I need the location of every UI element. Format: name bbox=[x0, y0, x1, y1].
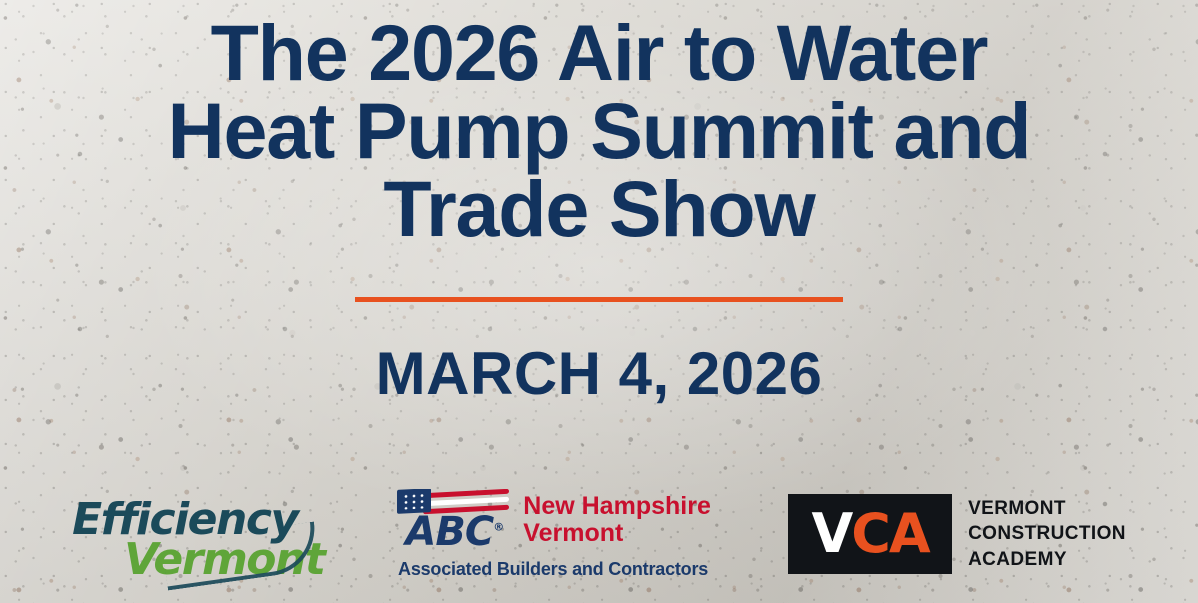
registered-mark-icon: ® bbox=[493, 520, 503, 533]
abc-chapter-line-2: Vermont bbox=[523, 520, 711, 547]
vca-wordmark-line-3: ACADEMY bbox=[968, 547, 1126, 572]
abc-chapter-line-1: New Hampshire bbox=[523, 493, 711, 520]
title-line-3: Trade Show bbox=[49, 170, 1149, 248]
sponsor-logo-row: Efficiency Vermont ABC® bbox=[0, 479, 1198, 589]
vca-letter-v: V bbox=[811, 502, 851, 565]
poster-content: The 2026 Air to Water Heat Pump Summit a… bbox=[0, 0, 1198, 603]
vca-monogram-mark: VCA bbox=[788, 494, 952, 574]
title-divider-rule bbox=[355, 297, 843, 302]
abc-chapter-name: New Hampshire Vermont bbox=[523, 493, 711, 549]
vermont-construction-academy-logo: VCA VERMONT CONSTRUCTION ACADEMY bbox=[788, 494, 1126, 574]
event-poster: The 2026 Air to Water Heat Pump Summit a… bbox=[0, 0, 1198, 603]
vca-letter-c: C bbox=[851, 502, 889, 565]
vca-wordmark-line-2: CONSTRUCTION bbox=[968, 521, 1126, 546]
flag-stripe bbox=[423, 496, 509, 506]
abc-tagline: Associated Builders and Contractors bbox=[398, 559, 708, 580]
abc-logo: ABC® New Hampshire Vermont Associated Bu… bbox=[390, 489, 716, 580]
abc-letters: ABC® bbox=[395, 509, 513, 555]
vca-letter-a: A bbox=[889, 502, 929, 565]
abc-logo-top: ABC® New Hampshire Vermont bbox=[395, 489, 711, 553]
title-line-1: The 2026 Air to Water bbox=[49, 14, 1149, 92]
abc-mark: ABC® bbox=[395, 489, 513, 553]
efficiency-vermont-logo: Efficiency Vermont bbox=[72, 488, 318, 580]
vca-wordmark-line-1: VERMONT bbox=[968, 496, 1126, 521]
vca-wordmark: VERMONT CONSTRUCTION ACADEMY bbox=[968, 496, 1126, 571]
page-title: The 2026 Air to Water Heat Pump Summit a… bbox=[49, 0, 1149, 249]
title-line-2: Heat Pump Summit and bbox=[49, 92, 1149, 170]
event-date: MARCH 4, 2026 bbox=[376, 344, 823, 404]
vca-monogram-letters: VCA bbox=[811, 507, 928, 561]
abc-letters-text: ABC bbox=[405, 509, 493, 555]
